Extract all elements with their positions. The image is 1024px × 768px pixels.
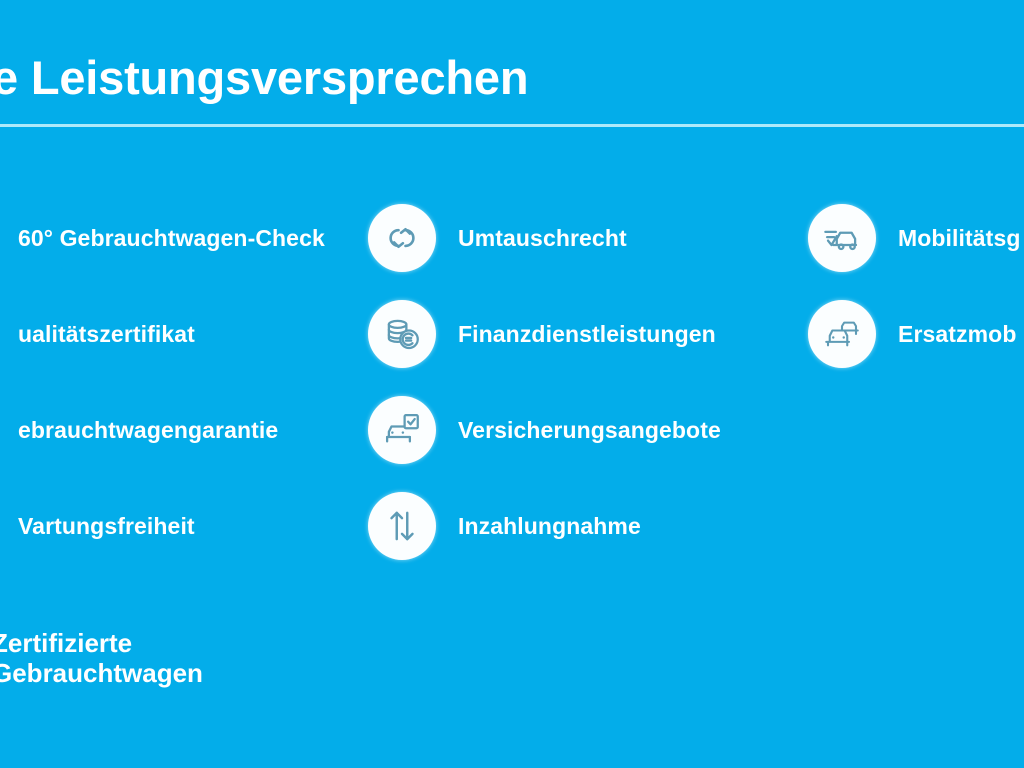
promise-item[interactable]: Inzahlungnahme [368,478,768,574]
promise-column-middle: Umtauschrecht Finanzdienstleistungen [368,190,768,574]
promise-item[interactable]: Ersatzmob [808,286,1024,382]
promise-label: Versicherungsangebote [458,417,721,444]
promise-label: Umtauschrecht [458,225,627,252]
promise-label: Vartungsfreiheit [18,513,195,540]
promise-column-right: Mobilitätsg Ersatzmob [808,190,1024,382]
promise-item[interactable]: Mobilitätsg [808,190,1024,286]
promise-label: ualitätszertifikat [18,321,195,348]
promise-label: Ersatzmob [898,321,1016,348]
promise-banner: ere Leistungsversprechen 60° Gebrauchtwa… [0,0,1024,768]
promise-label: Inzahlungnahme [458,513,641,540]
certified-used-cars-caption: Zertifizierte Gebrauchtwagen [0,628,203,689]
page-title: ere Leistungsversprechen [0,52,1024,104]
promise-label: Mobilitätsg [898,225,1020,252]
promise-label: ebrauchtwagengarantie [18,417,278,444]
exchange-arrows-icon [368,204,436,272]
promise-column-left: 60° Gebrauchtwagen-Check ualitätszertifi… [0,190,358,574]
promise-item[interactable]: 60° Gebrauchtwagen-Check [0,190,358,286]
promise-item[interactable]: Versicherungsangebote [368,382,768,478]
promise-item[interactable]: ualitätszertifikat [0,286,358,382]
promise-item[interactable]: ebrauchtwagengarantie [0,382,358,478]
promise-label: Finanzdienstleistungen [458,321,716,348]
header-divider [0,124,1024,127]
car-speed-icon [808,204,876,272]
promise-item[interactable]: Finanzdienstleistungen [368,286,768,382]
two-cars-icon [808,300,876,368]
promise-item[interactable]: Vartungsfreiheit [0,478,358,574]
coins-euro-icon [368,300,436,368]
promise-item[interactable]: Umtauschrecht [368,190,768,286]
up-down-arrows-icon [368,492,436,560]
car-checklist-icon [368,396,436,464]
promise-label: 60° Gebrauchtwagen-Check [18,225,325,252]
